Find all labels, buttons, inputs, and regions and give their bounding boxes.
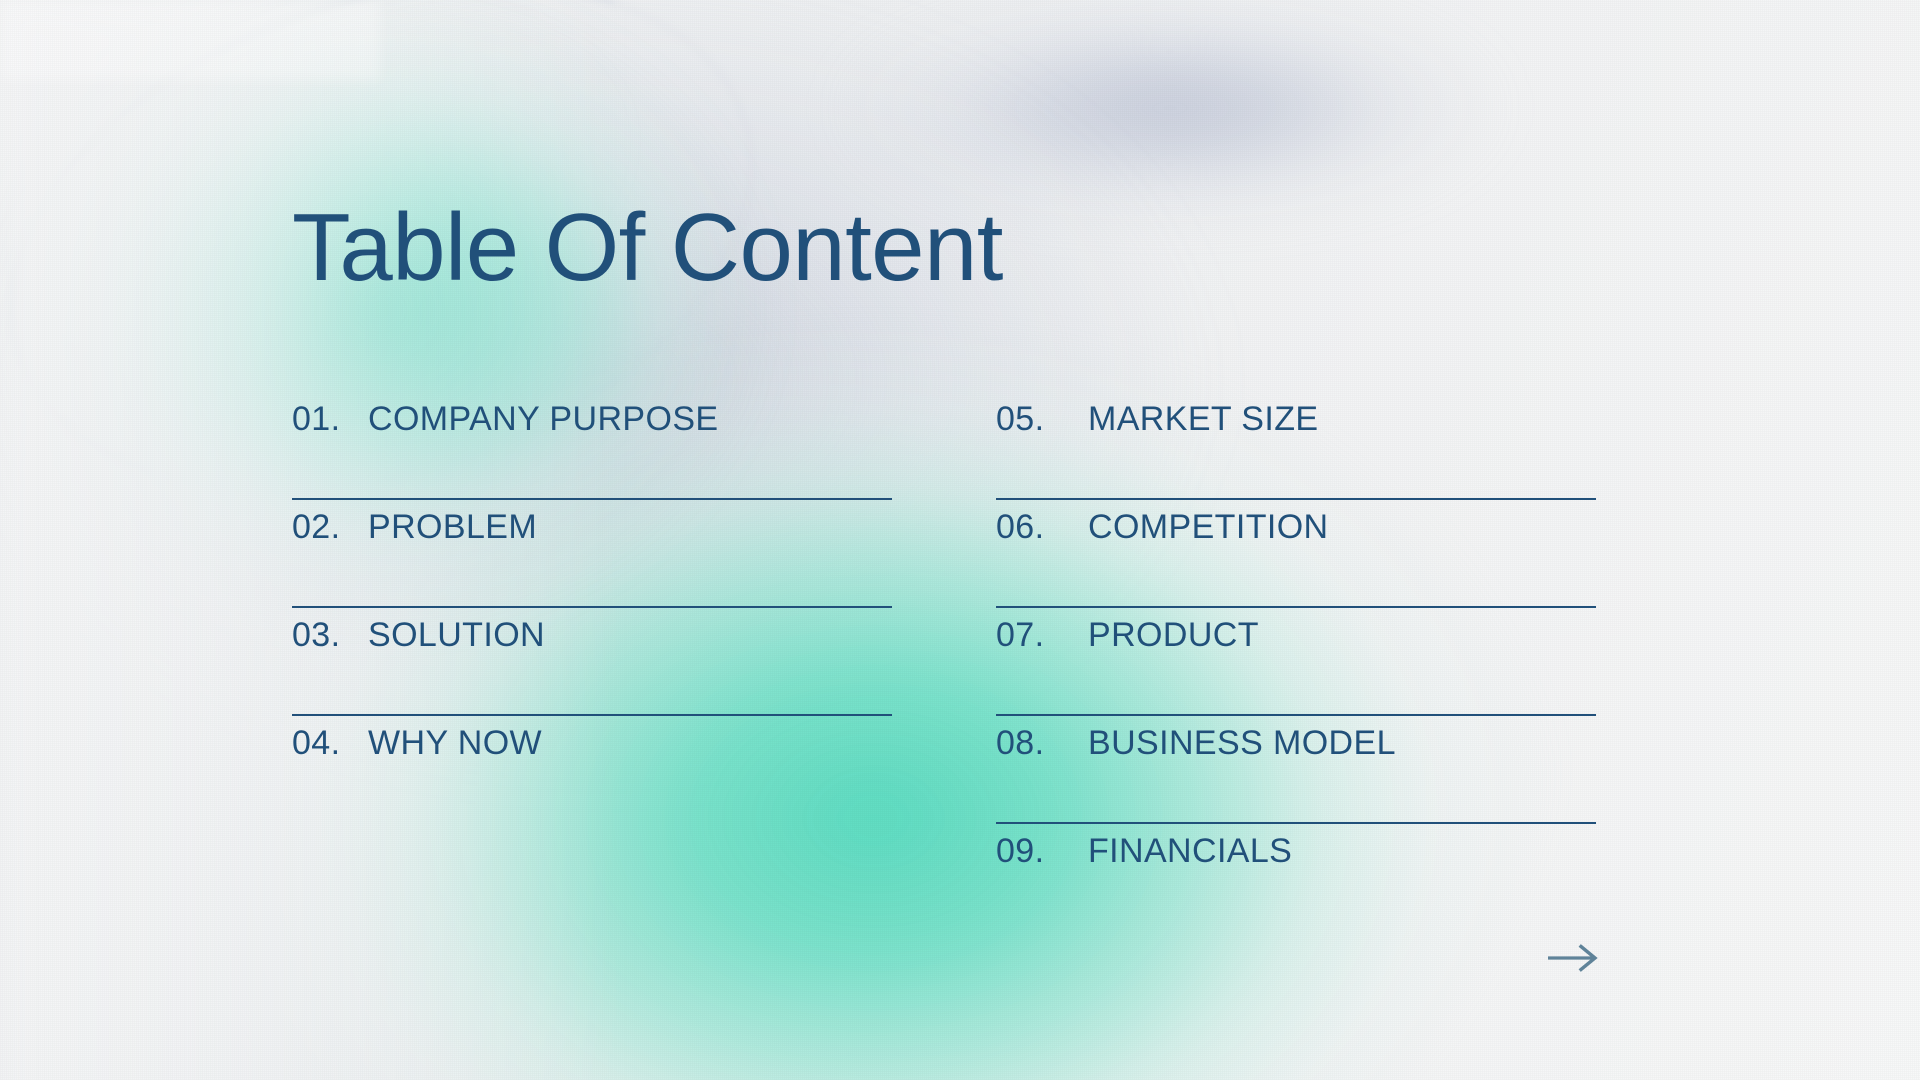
toc-item-number: 04. xyxy=(292,724,368,763)
toc-item-label: SOLUTION xyxy=(368,616,545,655)
toc-item-09[interactable]: 09. FINANCIALS xyxy=(996,824,1596,932)
toc-item-06[interactable]: 06. COMPETITION xyxy=(996,500,1596,608)
slide-content: Table Of Content 01. COMPANY PURPOSE 02.… xyxy=(0,0,1920,1080)
toc-item-08[interactable]: 08. BUSINESS MODEL xyxy=(996,716,1596,824)
toc-item-number: 06. xyxy=(996,508,1088,547)
page-title: Table Of Content xyxy=(292,198,1003,298)
toc-item-05[interactable]: 05. MARKET SIZE xyxy=(996,392,1596,500)
toc-item-number: 07. xyxy=(996,616,1088,655)
toc-column-right: 05. MARKET SIZE 06. COMPETITION 07. PROD… xyxy=(996,392,1596,932)
toc-item-number: 03. xyxy=(292,616,368,655)
toc-item-number: 05. xyxy=(996,400,1088,439)
slide-canvas: Table Of Content 01. COMPANY PURPOSE 02.… xyxy=(0,0,1920,1080)
toc-item-label: PRODUCT xyxy=(1088,616,1259,655)
toc-item-03[interactable]: 03. SOLUTION xyxy=(292,608,892,716)
toc-item-label: PROBLEM xyxy=(368,508,537,547)
toc-item-01[interactable]: 01. COMPANY PURPOSE xyxy=(292,392,892,500)
toc-item-number: 09. xyxy=(996,832,1088,871)
toc-item-label: COMPANY PURPOSE xyxy=(368,400,718,439)
next-slide-button[interactable] xyxy=(1538,938,1608,978)
toc-item-label: COMPETITION xyxy=(1088,508,1329,547)
toc-item-number: 02. xyxy=(292,508,368,547)
arrow-right-icon xyxy=(1546,943,1600,973)
toc-item-07[interactable]: 07. PRODUCT xyxy=(996,608,1596,716)
toc-column-left: 01. COMPANY PURPOSE 02. PROBLEM 03. SOLU… xyxy=(292,392,892,824)
toc-item-number: 01. xyxy=(292,400,368,439)
toc-item-04[interactable]: 04. WHY NOW xyxy=(292,716,892,824)
toc-item-label: FINANCIALS xyxy=(1088,832,1292,871)
toc-item-label: BUSINESS MODEL xyxy=(1088,724,1396,763)
toc-item-label: MARKET SIZE xyxy=(1088,400,1318,439)
toc-item-label: WHY NOW xyxy=(368,724,542,763)
toc-item-02[interactable]: 02. PROBLEM xyxy=(292,500,892,608)
toc-item-number: 08. xyxy=(996,724,1088,763)
